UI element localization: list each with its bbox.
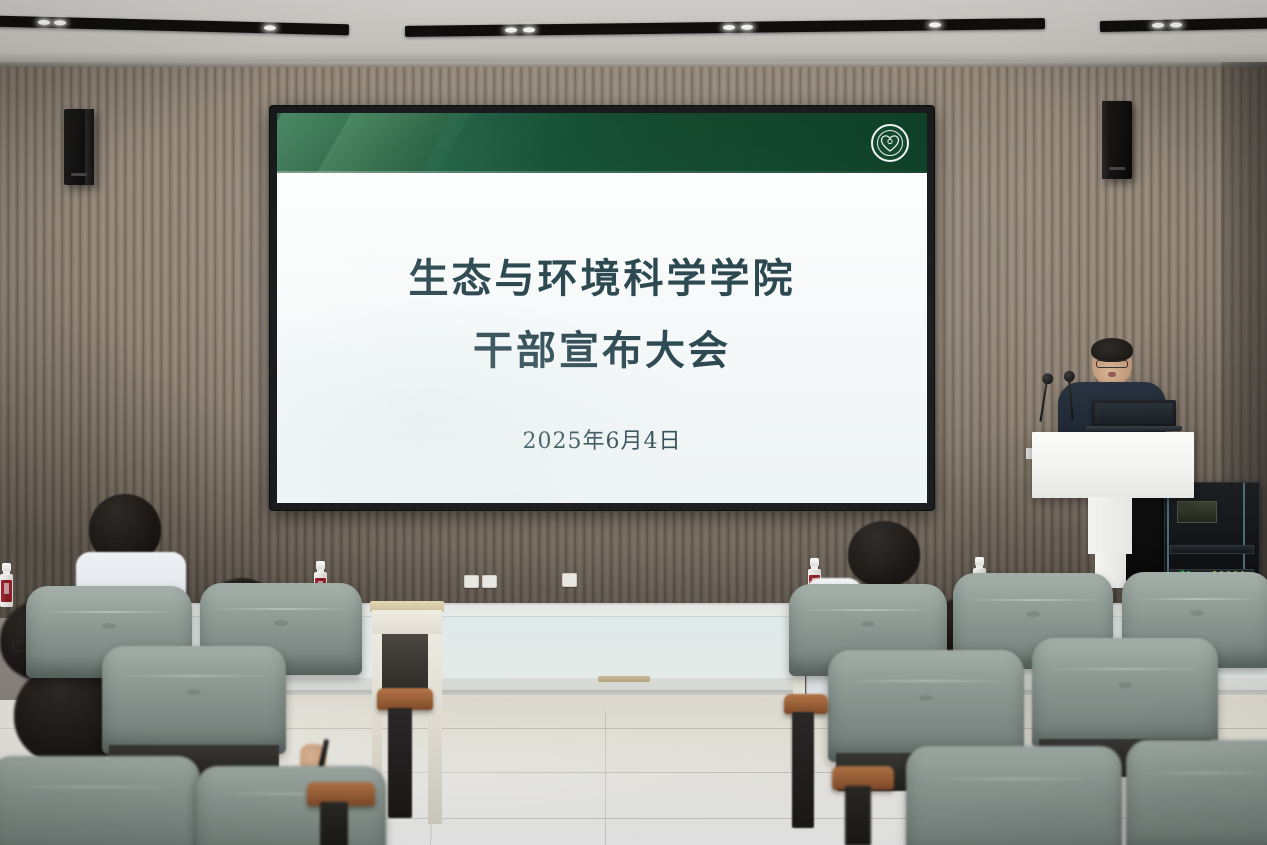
slide-date: 2025年6月4日 bbox=[523, 423, 682, 455]
armrest-post-1 bbox=[388, 708, 412, 818]
slide-title-line-1: 生态与环境科学学院 bbox=[409, 259, 796, 299]
stage-panel-handle bbox=[598, 676, 650, 682]
wall-socket-1 bbox=[464, 575, 479, 588]
projection-screen-frame: 生态与环境科学学院 干部宣布大会 2025年6月4日 bbox=[270, 106, 934, 510]
projection-screen[interactable]: 生态与环境科学学院 干部宣布大会 2025年6月4日 bbox=[277, 113, 927, 503]
slide-header-band bbox=[277, 113, 927, 173]
chair-mid-1[interactable] bbox=[102, 646, 286, 754]
presenter-laptop-base bbox=[1086, 426, 1182, 431]
university-seal-emblem-icon bbox=[871, 124, 909, 162]
rack-display-panel bbox=[1177, 501, 1217, 523]
chair-mid-3[interactable] bbox=[1032, 638, 1218, 748]
lectern-column bbox=[1088, 497, 1132, 554]
water-bottle-5 bbox=[0, 563, 13, 607]
wall-socket-2 bbox=[482, 575, 497, 588]
front-desk-left-leg-2 bbox=[428, 634, 442, 824]
presenter-head bbox=[1092, 340, 1132, 386]
chair-front-4[interactable] bbox=[1126, 740, 1267, 845]
armrest-post-4 bbox=[845, 786, 871, 845]
armrest-post-2 bbox=[320, 802, 348, 845]
conference-hall-photo: 生态与环境科学学院 干部宣布大会 2025年6月4日 bbox=[0, 0, 1267, 845]
wall-speaker-right bbox=[1102, 101, 1132, 179]
presenter-glasses-icon bbox=[1096, 360, 1128, 368]
audience-head-3 bbox=[848, 521, 920, 587]
wall-speaker-left bbox=[64, 109, 94, 185]
chair-front-3[interactable] bbox=[906, 746, 1122, 845]
slide-title-line-2: 干部宣布大会 bbox=[473, 331, 731, 371]
armrest-1 bbox=[377, 688, 433, 710]
slide-body: 生态与环境科学学院 干部宣布大会 2025年6月4日 bbox=[277, 173, 927, 503]
speaker-lectern bbox=[1032, 432, 1194, 498]
wall-socket-3 bbox=[562, 573, 577, 587]
armrest-3 bbox=[784, 694, 828, 714]
armrest-post-3 bbox=[792, 712, 814, 828]
presenter-laptop[interactable] bbox=[1092, 400, 1176, 428]
chair-front-1[interactable] bbox=[0, 756, 200, 845]
